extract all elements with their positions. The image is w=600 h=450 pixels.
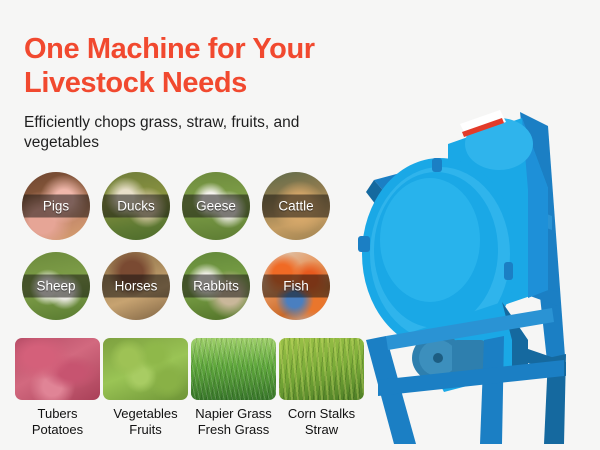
- animal-badge-ducks[interactable]: Ducks: [102, 172, 170, 240]
- animal-badge-fish[interactable]: Fish: [262, 252, 330, 320]
- animal-badge-label: Ducks: [117, 199, 155, 214]
- animal-badge-grid: Pigs Ducks Geese Cattle: [22, 172, 352, 332]
- material-tile-caption: Tubers Potatoes: [15, 406, 100, 438]
- material-tile-caption-line2: Fruits: [103, 422, 188, 438]
- animal-badge-horses[interactable]: Horses: [102, 252, 170, 320]
- animal-badge-label-band: Ducks: [102, 195, 170, 218]
- animal-badge-rabbits[interactable]: Rabbits: [182, 252, 250, 320]
- material-tile-vegetables[interactable]: Vegetables Fruits: [103, 338, 188, 438]
- material-tile-caption: Napier Grass Fresh Grass: [191, 406, 276, 438]
- animal-badge-label-band: Pigs: [22, 195, 90, 218]
- animal-badge-label-band: Horses: [102, 275, 170, 298]
- machine-illustration: [352, 40, 600, 450]
- material-tile-caption-line1: Corn Stalks: [288, 406, 355, 421]
- animal-badge-label: Rabbits: [193, 279, 239, 294]
- animal-badge-sheep[interactable]: Sheep: [22, 252, 90, 320]
- material-tile-caption-line1: Napier Grass: [195, 406, 272, 421]
- animal-badge-label-band: Fish: [262, 275, 330, 298]
- material-tile-napier-grass[interactable]: Napier Grass Fresh Grass: [191, 338, 276, 438]
- material-tile-caption-line1: Tubers: [38, 406, 78, 421]
- animal-badge-label: Geese: [196, 199, 236, 214]
- sweet-potatoes-photo: [15, 338, 100, 400]
- product-banner: One Machine for Your Livestock Needs Eff…: [0, 0, 600, 450]
- animal-badge-label: Cattle: [278, 199, 313, 214]
- animal-badge-pigs[interactable]: Pigs: [22, 172, 90, 240]
- animal-badge-label-band: Sheep: [22, 275, 90, 298]
- animal-badge-label: Horses: [115, 279, 158, 294]
- page-subtitle: Efficiently chops grass, straw, fruits, …: [24, 113, 359, 153]
- animal-badge-label-band: Cattle: [262, 195, 330, 218]
- material-tile-caption: Vegetables Fruits: [103, 406, 188, 438]
- napier-grass-photo: [191, 338, 276, 400]
- material-tile-caption-line2: Potatoes: [15, 422, 100, 438]
- animal-badge-label: Pigs: [43, 199, 69, 214]
- material-tile-tubers[interactable]: Tubers Potatoes: [15, 338, 100, 438]
- material-tile-caption-line2: Fresh Grass: [191, 422, 276, 438]
- animal-badge-row-2: Sheep Horses Rabbits Fish: [22, 252, 352, 320]
- animal-badge-row-1: Pigs Ducks Geese Cattle: [22, 172, 352, 240]
- animal-badge-label-band: Geese: [182, 195, 250, 218]
- page-title: One Machine for Your Livestock Needs: [24, 33, 384, 100]
- animal-badge-geese[interactable]: Geese: [182, 172, 250, 240]
- animal-badge-label: Sheep: [36, 279, 75, 294]
- animal-badge-label: Fish: [283, 279, 309, 294]
- material-tile-caption-line1: Vegetables: [113, 406, 177, 421]
- animal-badge-cattle[interactable]: Cattle: [262, 172, 330, 240]
- green-vegetables-photo: [103, 338, 188, 400]
- animal-badge-label-band: Rabbits: [182, 275, 250, 298]
- material-tile-row: Tubers Potatoes Vegetables Fruits Napier…: [15, 338, 360, 438]
